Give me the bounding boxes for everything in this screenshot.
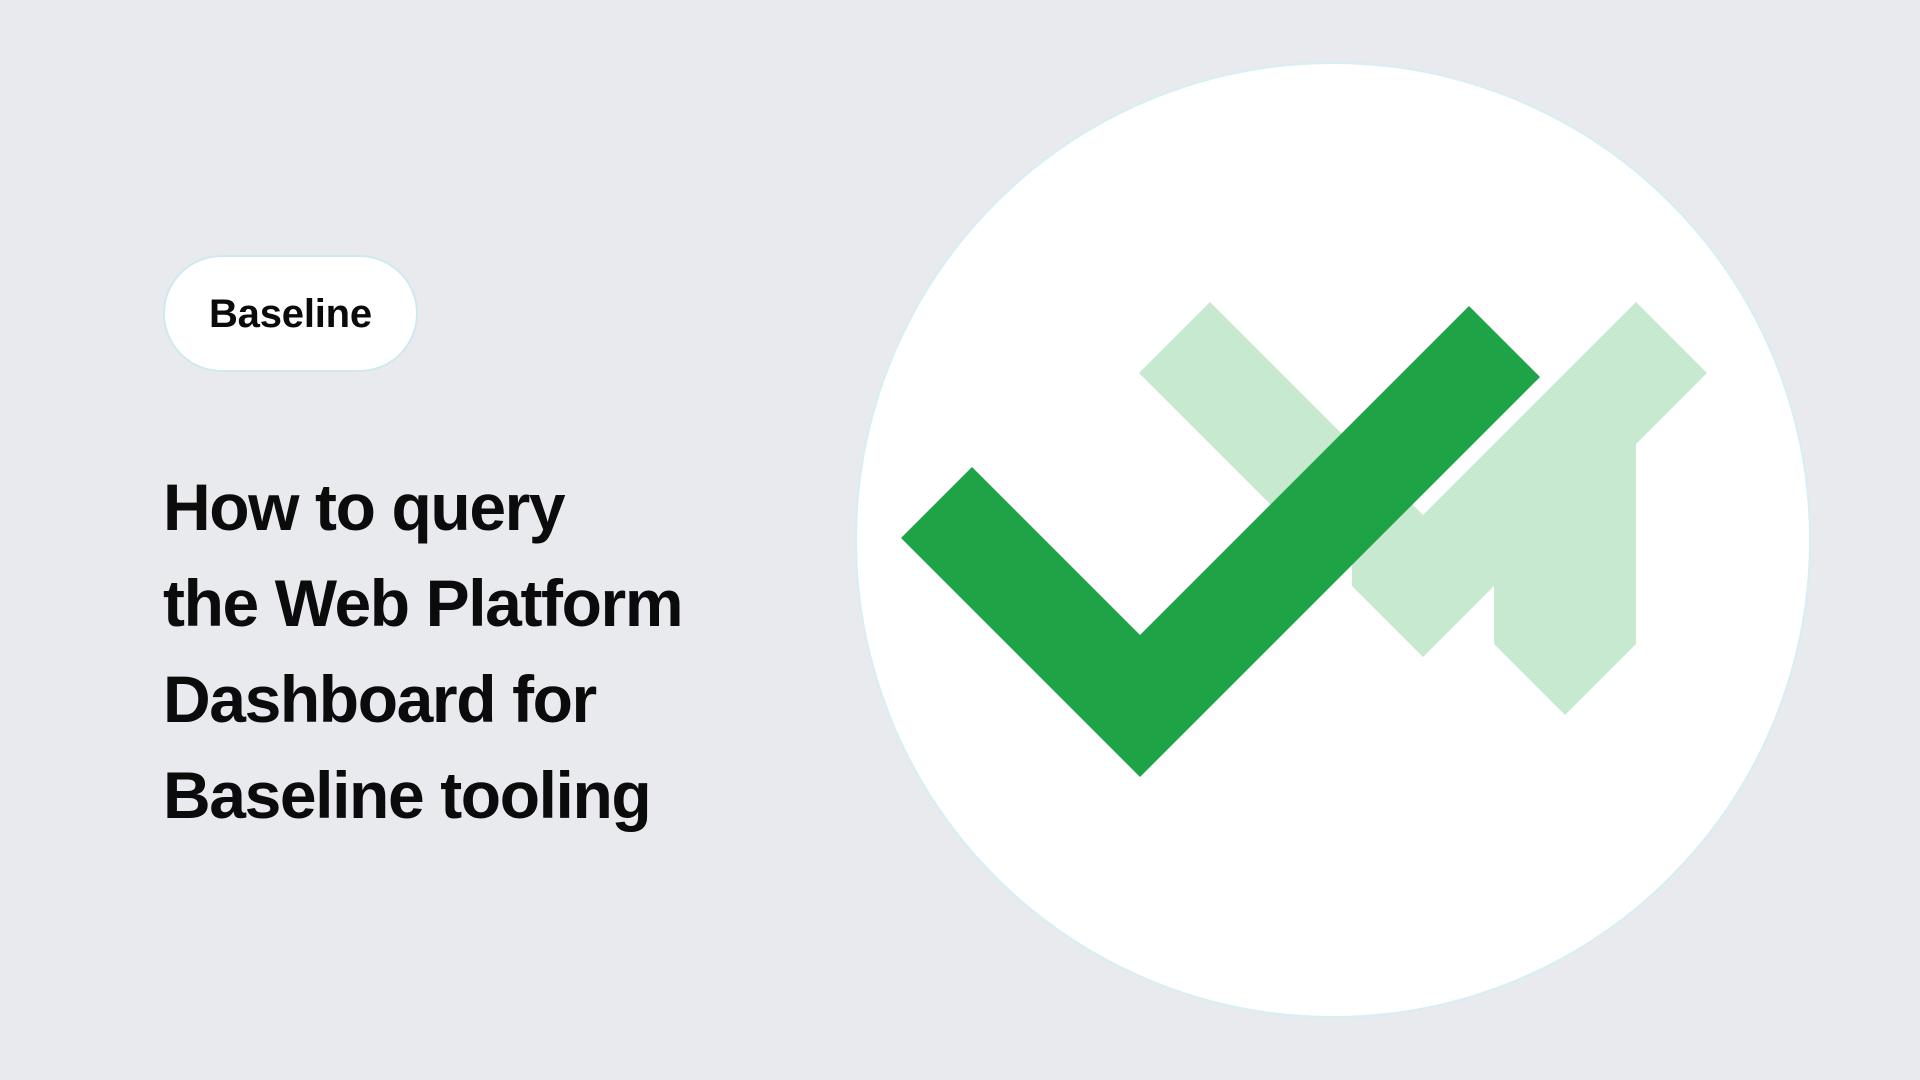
page-title-line-2: the Web Platform — [163, 555, 863, 651]
page-title: How to query the Web Platform Dashboard … — [163, 459, 863, 843]
page-title-line-3: Dashboard for — [163, 651, 863, 747]
baseline-logo-circle — [855, 62, 1811, 1018]
baseline-badge-label: Baseline — [209, 294, 372, 334]
text-column: Baseline How to query the Web Platform D… — [163, 0, 863, 1080]
page-title-line-1: How to query — [163, 459, 863, 555]
page-title-line-4: Baseline tooling — [163, 747, 863, 843]
social-card: Baseline How to query the Web Platform D… — [0, 0, 1920, 1080]
baseline-badge: Baseline — [163, 255, 418, 372]
baseline-logo-icon — [857, 64, 1811, 1018]
